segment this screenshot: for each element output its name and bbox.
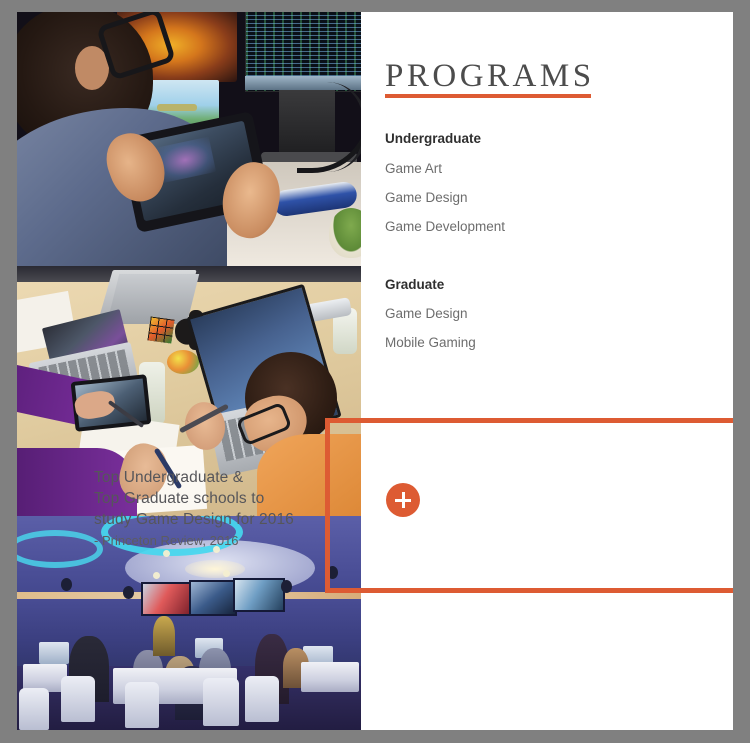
chair xyxy=(19,688,49,730)
computer-monitor xyxy=(39,642,69,664)
table xyxy=(301,662,359,692)
content-card: PROGRAMS Undergraduate Game Art Game Des… xyxy=(17,12,733,730)
ceiling-light xyxy=(185,560,245,578)
cable xyxy=(317,82,361,172)
chair xyxy=(125,682,159,728)
group-heading-undergraduate: Undergraduate xyxy=(385,131,481,146)
candy-pile xyxy=(167,350,199,374)
quote-line: Top Undergraduate & xyxy=(94,467,374,488)
photo-student-playing-game-on-tablet xyxy=(17,12,361,266)
speaker xyxy=(61,578,72,591)
wall-screen xyxy=(141,582,193,616)
wall-screen xyxy=(189,580,237,616)
quote-line: Top Graduate schools to xyxy=(94,488,374,509)
title-underline xyxy=(385,94,591,98)
speaker xyxy=(281,580,292,593)
page-title: PROGRAMS xyxy=(385,58,595,95)
group-heading-graduate: Graduate xyxy=(385,277,444,292)
program-item[interactable]: Game Development xyxy=(385,219,505,234)
program-item[interactable]: Game Art xyxy=(385,161,442,176)
ceiling-spotlight xyxy=(153,572,160,579)
wall-screen xyxy=(233,578,285,612)
program-item[interactable]: Game Design xyxy=(385,306,468,321)
quote-source: - Princeton Review, 2016 xyxy=(94,531,374,550)
plus-icon[interactable] xyxy=(386,483,420,517)
program-item[interactable]: Mobile Gaming xyxy=(385,335,476,350)
quote-line: study Game Design for 2016 xyxy=(94,509,374,530)
chair xyxy=(245,676,279,722)
rubiks-cube xyxy=(147,316,174,343)
chair xyxy=(61,676,95,722)
callout-quote: Top Undergraduate & Top Graduate schools… xyxy=(94,467,374,550)
ceiling-spotlight xyxy=(163,550,170,557)
page-background: PROGRAMS Undergraduate Game Art Game Des… xyxy=(0,0,750,743)
person xyxy=(153,616,175,656)
programs-panel: PROGRAMS Undergraduate Game Art Game Des… xyxy=(361,12,733,730)
plant xyxy=(329,208,361,258)
ceiling-spotlight xyxy=(223,570,230,577)
speaker xyxy=(327,566,338,579)
photo-column xyxy=(17,12,361,730)
program-item[interactable]: Game Design xyxy=(385,190,468,205)
speaker xyxy=(123,586,134,599)
game-object xyxy=(157,104,197,111)
chair xyxy=(203,678,239,726)
